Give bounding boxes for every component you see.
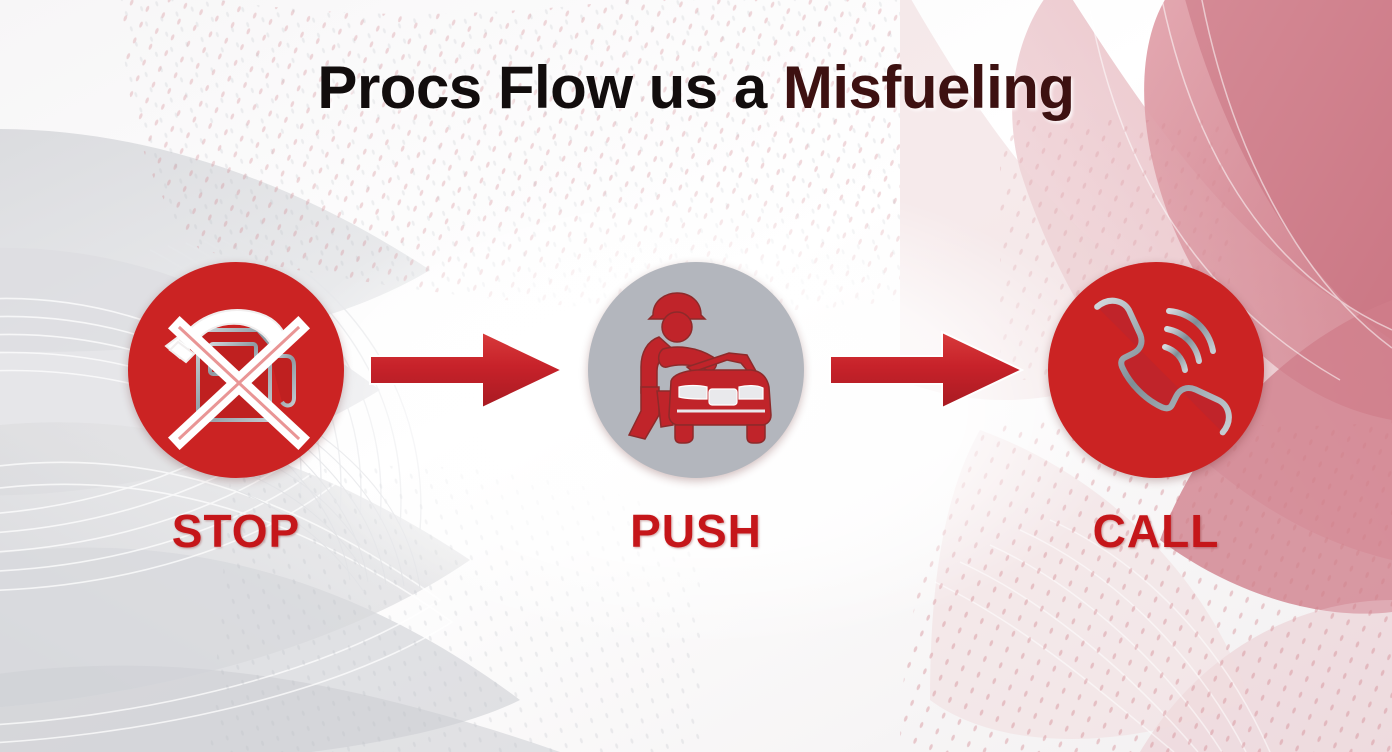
process-steps: STOP xyxy=(0,262,1392,592)
step-label-push: PUSH xyxy=(630,504,762,558)
step-call[interactable]: CALL xyxy=(1041,262,1271,558)
person-pushing-car-icon xyxy=(601,275,791,465)
page-title: Procs Flow us a Misfueling xyxy=(0,58,1392,118)
push-badge xyxy=(588,262,804,478)
telephone-handset-icon xyxy=(1061,275,1251,465)
call-badge xyxy=(1048,262,1264,478)
step-push[interactable]: PUSH xyxy=(581,262,811,558)
arrow-right-icon xyxy=(826,324,1026,416)
title-lead: Procs Flow us a xyxy=(317,54,766,121)
infographic-canvas: Procs Flow us a Misfueling xyxy=(0,0,1392,752)
title-highlight: Misfueling xyxy=(783,54,1075,121)
arrow-right-icon xyxy=(366,324,566,416)
stop-badge xyxy=(128,262,344,478)
step-label-call: CALL xyxy=(1093,504,1220,558)
step-stop[interactable]: STOP xyxy=(121,262,351,558)
no-fuel-pump-icon xyxy=(136,270,336,470)
connector-2 xyxy=(811,262,1041,478)
step-label-stop: STOP xyxy=(172,504,300,558)
connector-1 xyxy=(351,262,581,478)
